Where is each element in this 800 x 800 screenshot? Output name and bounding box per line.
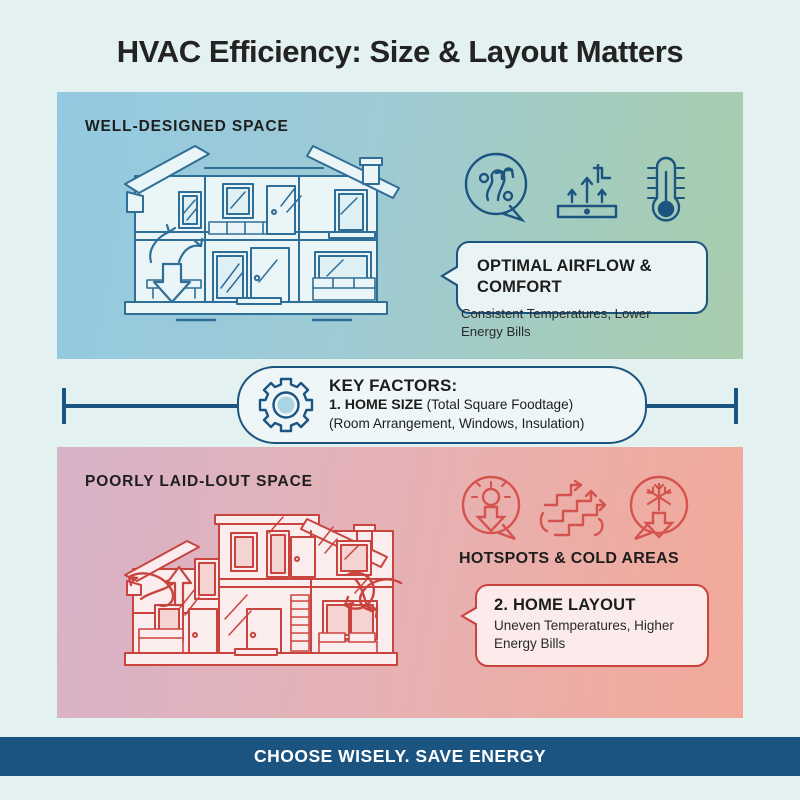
key-factor-1-label: 1. HOME SIZE — [329, 397, 423, 413]
home-layout-subtext: Uneven Temperatures, Higher Energy Bills — [494, 617, 693, 653]
hotspots-cold-areas-label: HOTSPOTS & COLD AREAS — [459, 550, 679, 568]
key-factors-text-block: KEY FACTORS: 1. HOME SIZE (Total Square … — [329, 376, 584, 434]
callout-tail-inner-icon — [464, 608, 478, 624]
airflow-bubble-icon — [460, 150, 536, 226]
key-factors-box: KEY FACTORS: 1. HOME SIZE (Total Square … — [237, 366, 647, 444]
banner-text: CHOOSE WISELY. SAVE ENERGY — [254, 746, 546, 767]
panel-label-well-designed: WELL-DESIGNED SPACE — [85, 118, 289, 136]
optimal-airflow-heading: OPTIMAL AIRFLOW & COMFORT — [477, 256, 690, 298]
vent-airflow-icon — [554, 164, 620, 226]
bottom-banner: CHOOSE WISELY. SAVE ENERGY — [0, 737, 800, 776]
heat-hotspot-bubble-icon — [457, 473, 527, 545]
infographic-canvas: HVAC Efficiency: Size & Layout Matters W… — [0, 0, 800, 800]
connector-line-left — [62, 404, 246, 408]
key-factor-1-sub: (Room Arrangement, Windows, Insulation) — [329, 415, 584, 433]
hotspot-icon-cluster — [457, 473, 693, 545]
well-designed-house-illustration — [117, 140, 417, 330]
home-layout-callout: 2. HOME LAYOUT Uneven Temperatures, High… — [475, 584, 709, 667]
key-factor-1-line: 1. HOME SIZE (Total Square Foodtage) — [329, 396, 584, 415]
connector-cap-left — [62, 388, 66, 424]
poorly-laid-out-panel: POORLY LAID-LOUT SPACE — [57, 447, 743, 718]
turbulent-airflow-icon — [537, 479, 613, 545]
page-title: HVAC Efficiency: Size & Layout Matters — [0, 34, 800, 70]
optimal-airflow-callout: OPTIMAL AIRFLOW & COMFORT — [456, 241, 708, 314]
gear-icon — [257, 376, 315, 434]
key-factors-title: KEY FACTORS: — [329, 376, 584, 396]
optimal-airflow-subtext: Consistent Temperatures, Lower Energy Bi… — [461, 305, 676, 340]
well-designed-panel: WELL-DESIGNED SPACE — [57, 92, 743, 359]
callout-tail-inner-icon — [444, 267, 459, 285]
comfort-icon-cluster — [460, 150, 694, 226]
key-factor-1-detail: (Total Square Foodtage) — [427, 397, 574, 412]
thermometer-icon — [638, 152, 694, 226]
connector-line-right — [632, 404, 738, 408]
poorly-laid-out-house-illustration — [119, 483, 419, 683]
snowflake-cold-bubble-icon — [623, 473, 693, 545]
home-layout-heading: 2. HOME LAYOUT — [494, 596, 693, 615]
connector-cap-right — [734, 388, 738, 424]
